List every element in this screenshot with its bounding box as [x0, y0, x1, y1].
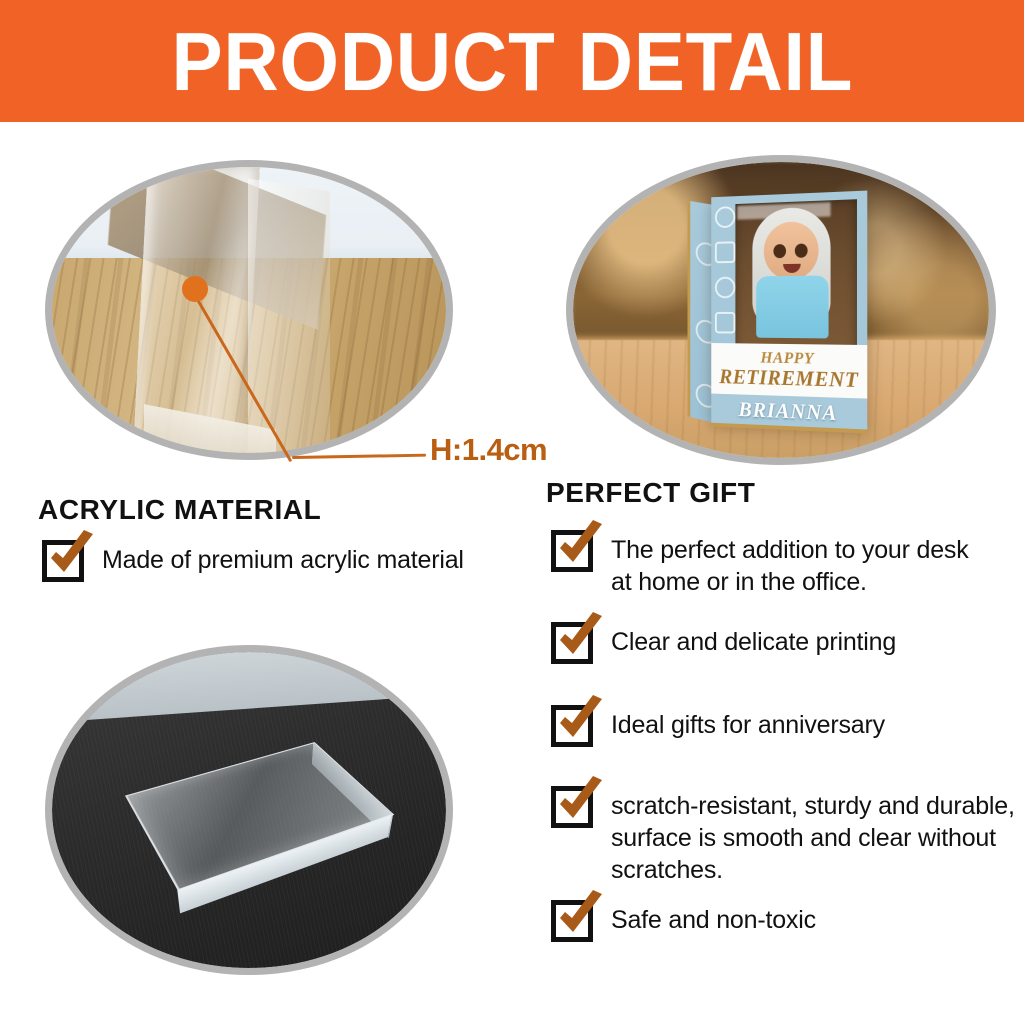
feature-row: scratch-resistant, sturdy and durable, s… [551, 786, 1015, 886]
feature-row: Clear and delicate printing [551, 622, 896, 664]
feature-text: Made of premium acrylic material [102, 540, 464, 576]
checkbox-checked[interactable] [551, 530, 593, 572]
check-icon [43, 528, 101, 586]
gift-box-photo: HAPPY RETIREMENT BRIANNA [566, 155, 996, 465]
acrylic-block-photo [45, 645, 453, 975]
checkbox-checked[interactable] [551, 622, 593, 664]
check-icon [552, 774, 610, 832]
page-title: PRODUCT DETAIL [171, 20, 853, 103]
feature-row: Safe and non-toxic [551, 900, 816, 942]
figurine-body [756, 275, 828, 338]
gift-box-name-band: BRIANNA [711, 394, 867, 434]
feature-row: The perfect addition to your desk at hom… [551, 530, 969, 598]
acrylic-block-photo-inner [52, 652, 446, 968]
gift-box-title-band: HAPPY RETIREMENT [711, 343, 867, 399]
feature-text: Clear and delicate printing [611, 622, 896, 658]
checkbox-checked[interactable] [42, 540, 84, 582]
cake-slice-icon [715, 312, 735, 334]
check-icon [552, 888, 610, 946]
dimension-label: H:1.4cm [430, 432, 547, 468]
party-hat-icon [715, 277, 735, 299]
feature-text: scratch-resistant, sturdy and durable, s… [611, 786, 1015, 886]
product-detail-page: PRODUCT DETAIL H:1.4cm [0, 0, 1024, 1024]
gift-box-photo-inner: HAPPY RETIREMENT BRIANNA [573, 162, 989, 458]
acrylic-edge-photo-inner [52, 167, 446, 453]
checkbox-checked[interactable] [551, 705, 593, 747]
feature-text: Safe and non-toxic [611, 900, 816, 936]
checkbox-checked[interactable] [551, 786, 593, 828]
gift-box-icon-column [715, 206, 734, 347]
feature-row: Ideal gifts for anniversary [551, 705, 885, 747]
checkbox-checked[interactable] [551, 900, 593, 942]
check-icon [552, 610, 610, 668]
check-icon [552, 693, 610, 751]
feature-text: Ideal gifts for anniversary [611, 705, 885, 741]
card-icon [715, 241, 735, 263]
gift-box-front-panel: HAPPY RETIREMENT BRIANNA [711, 191, 867, 428]
dimension-leader-line-segment-2 [292, 454, 426, 459]
acrylic-edge-photo [45, 160, 453, 460]
gift-box-personalized-name: BRIANNA [738, 397, 837, 426]
pocket-watch-icon [715, 206, 735, 228]
gift-box-retirement-text: RETIREMENT [719, 366, 858, 392]
figurine-mouth [783, 264, 801, 273]
figurine-eye-right [795, 244, 808, 258]
figurine-eye-left [773, 244, 786, 258]
feature-row: Made of premium acrylic material [42, 540, 464, 582]
section-title-perfect-gift: PERFECT GIFT [546, 477, 755, 509]
figurine-gift-box: HAPPY RETIREMENT BRIANNA [711, 191, 867, 428]
feature-text: The perfect addition to your desk at hom… [611, 530, 969, 598]
dimension-callout-dot [182, 276, 208, 302]
header-banner: PRODUCT DETAIL [0, 0, 1024, 122]
section-title-acrylic-material: ACRYLIC MATERIAL [38, 494, 321, 526]
check-icon [552, 518, 610, 576]
